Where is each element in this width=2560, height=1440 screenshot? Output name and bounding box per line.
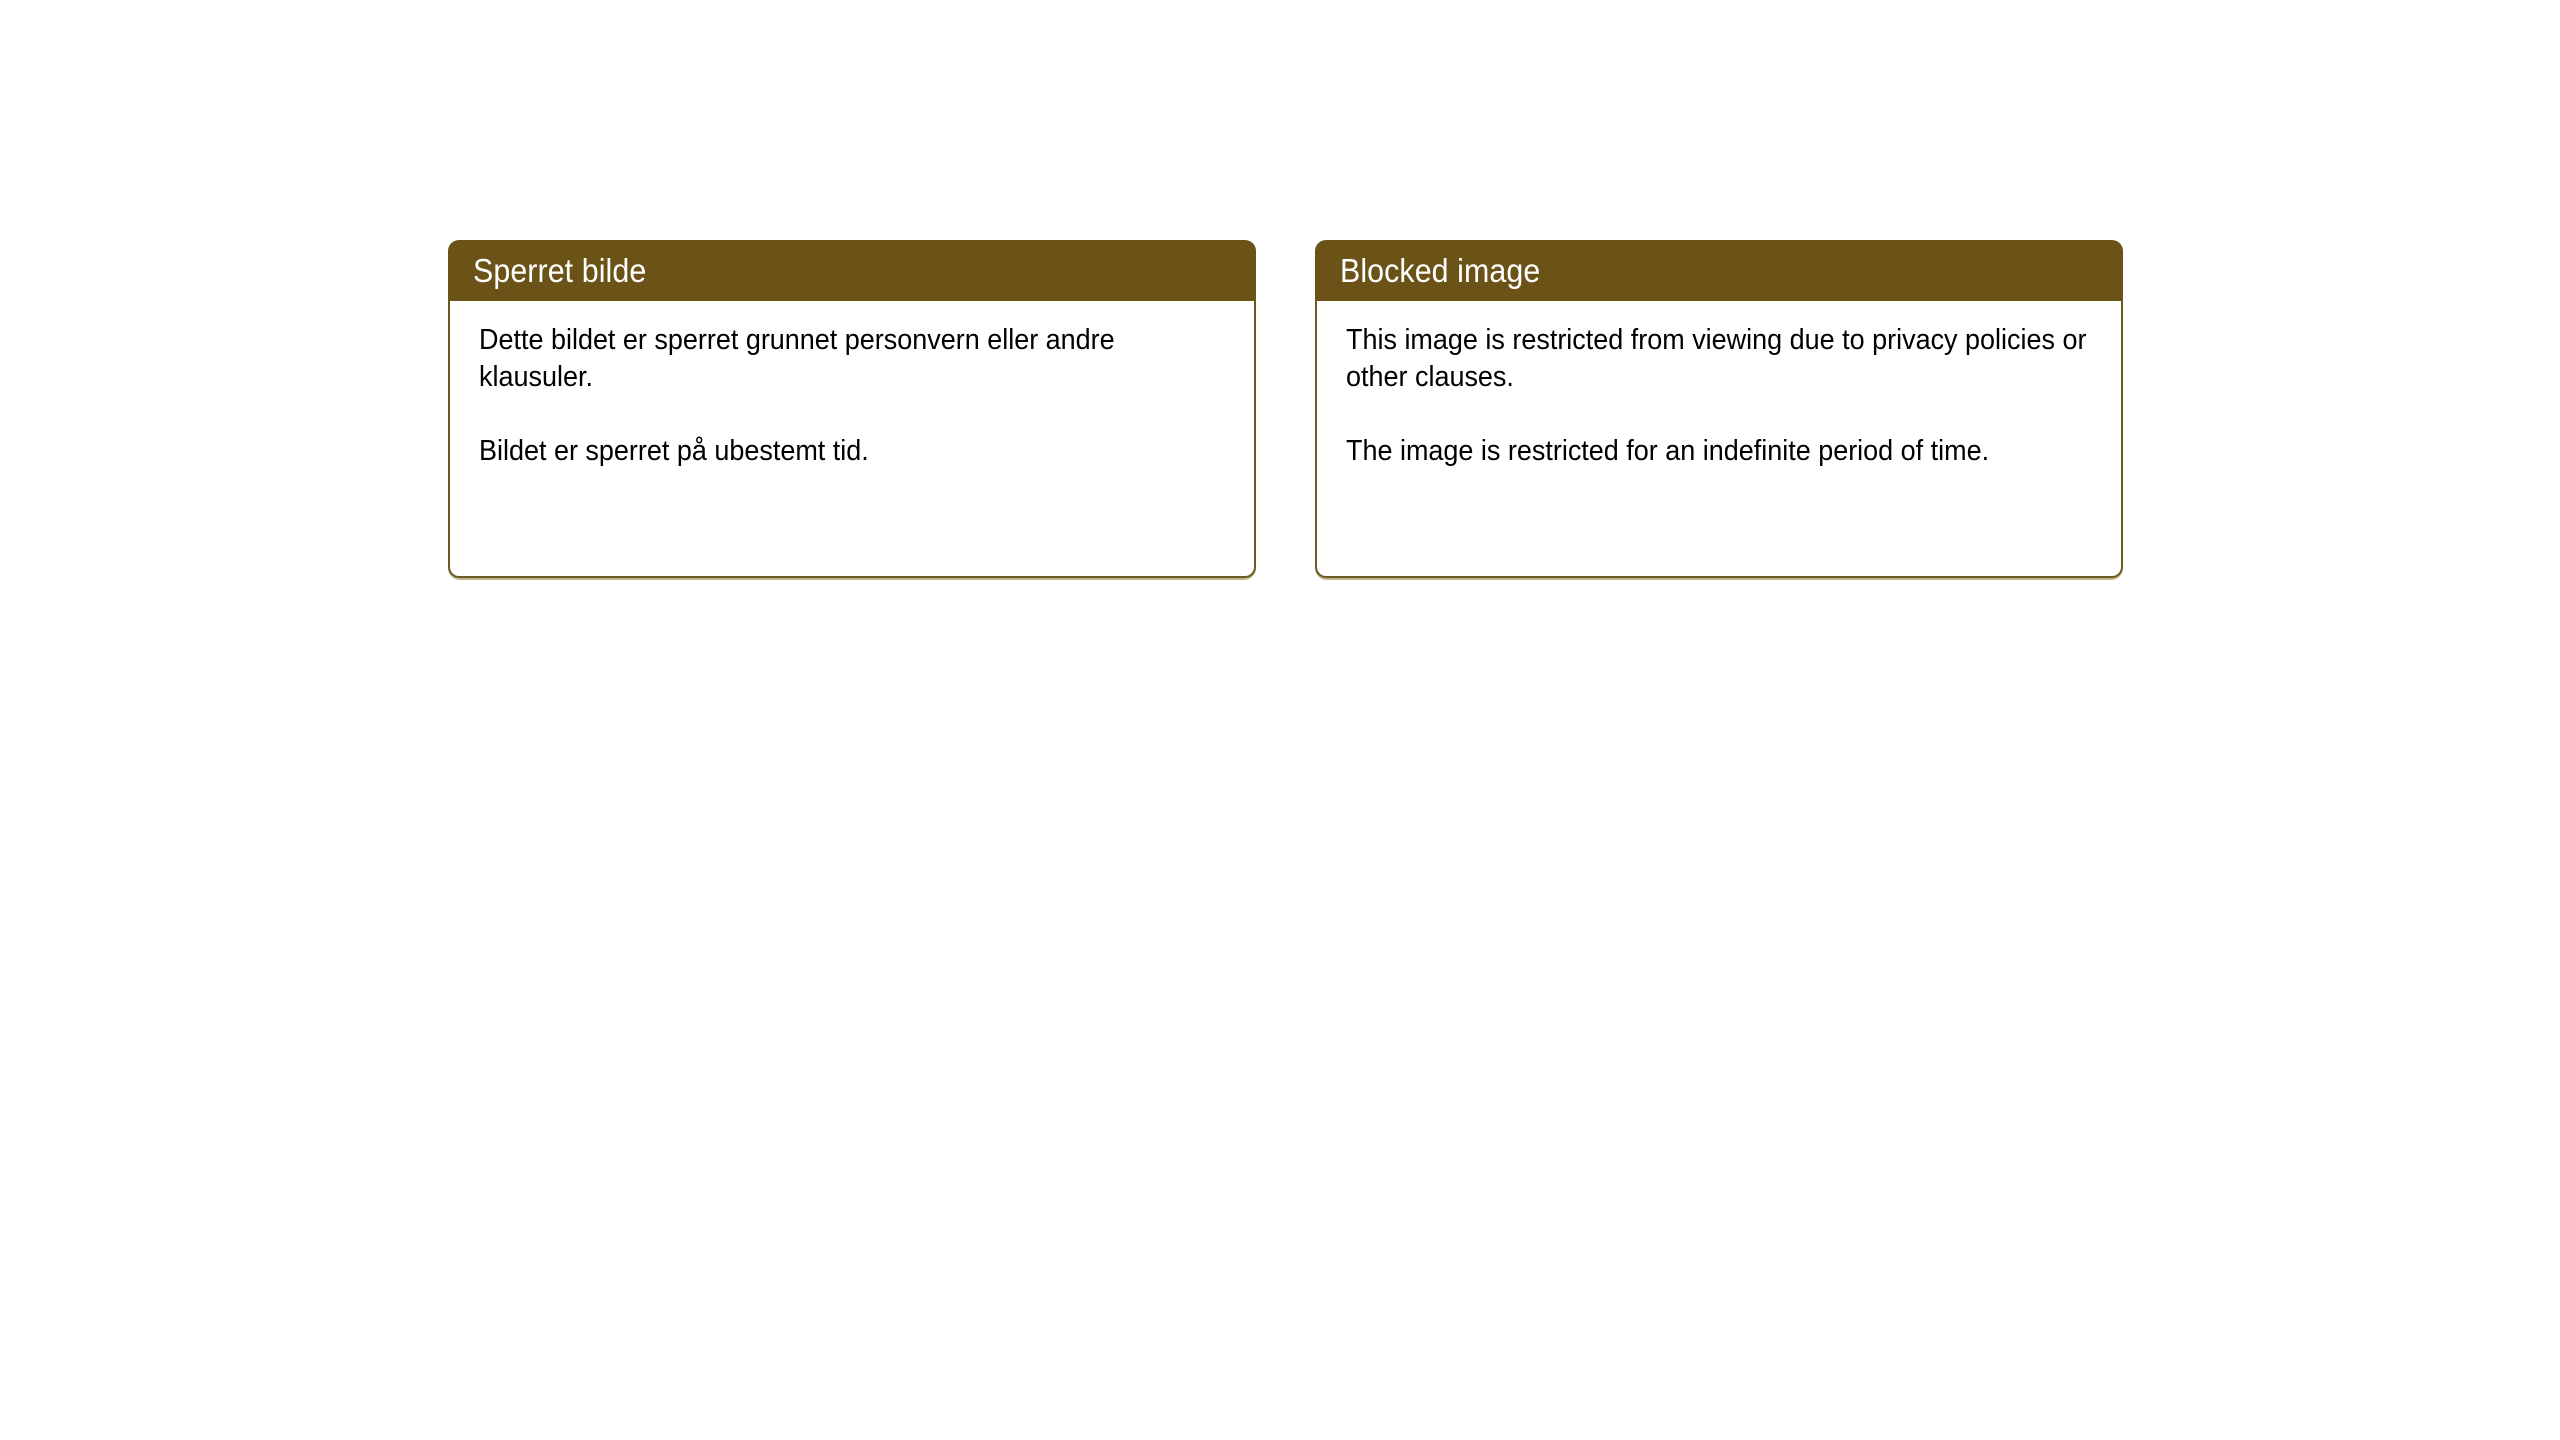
card-title-norwegian: Sperret bilde [473, 254, 646, 287]
card-paragraph-duration-norwegian: Bildet er sperret på ubestemt tid. [479, 433, 1228, 470]
card-header-norwegian: Sperret bilde [448, 240, 1256, 301]
card-paragraph-duration-english: The image is restricted for an indefinit… [1346, 433, 2095, 470]
card-header-english: Blocked image [1315, 240, 2123, 301]
blocked-image-card-english: Blocked image This image is restricted f… [1315, 240, 2123, 578]
page-canvas: Sperret bilde Dette bildet er sperret gr… [0, 0, 2560, 1440]
card-title-english: Blocked image [1340, 254, 1540, 287]
card-body-norwegian: Dette bildet er sperret grunnet personve… [448, 301, 1256, 578]
card-paragraph-reason-norwegian: Dette bildet er sperret grunnet personve… [479, 322, 1228, 397]
card-body-english: This image is restricted from viewing du… [1315, 301, 2123, 578]
card-paragraph-reason-english: This image is restricted from viewing du… [1346, 322, 2095, 397]
blocked-image-card-norwegian: Sperret bilde Dette bildet er sperret gr… [448, 240, 1256, 578]
